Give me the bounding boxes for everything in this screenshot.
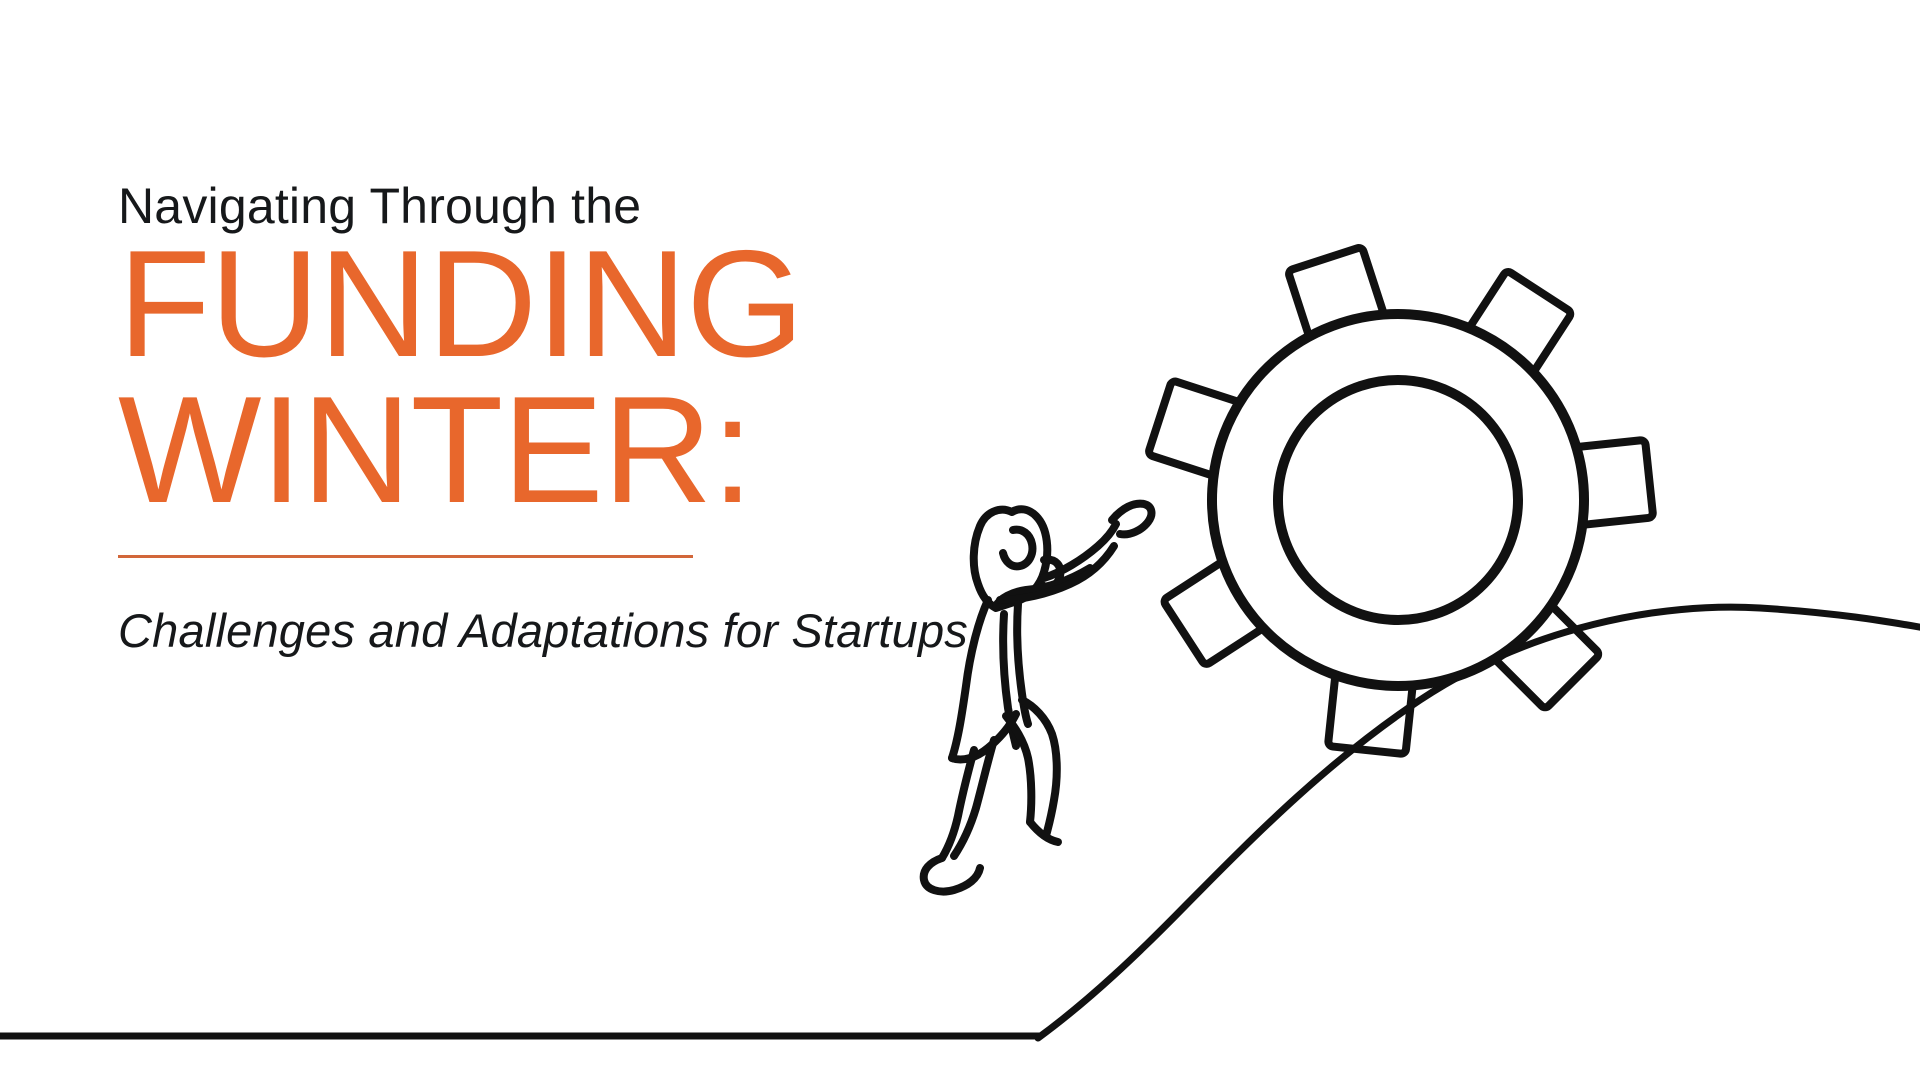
title-slide: Navigating Through the FUNDING WINTER: C… xyxy=(0,0,1920,1080)
gear-tooth xyxy=(1573,440,1653,525)
person-front-leg-inner xyxy=(1006,716,1031,822)
headline-line-2: WINTER: xyxy=(118,381,1198,521)
subtitle-text: Challenges and Adaptations for Startups xyxy=(118,603,1198,658)
person-front-foot xyxy=(1030,822,1058,842)
person-back-leg xyxy=(954,740,994,856)
gear-tooth xyxy=(1468,270,1573,373)
person-back-leg-inner xyxy=(942,750,974,858)
gear-tooth xyxy=(1494,603,1600,709)
person-back-foot xyxy=(924,858,980,892)
title-text-block: Navigating Through the FUNDING WINTER: C… xyxy=(118,180,1198,658)
page-title: FUNDING WINTER: xyxy=(118,235,1198,521)
headline-line-1: FUNDING xyxy=(118,235,1198,375)
gear-outer-rim xyxy=(1164,266,1633,735)
person-coat-hem xyxy=(952,714,1016,760)
gear-tooth xyxy=(1328,674,1413,754)
accent-divider xyxy=(118,555,693,558)
gear-tooth xyxy=(1288,247,1384,340)
person-front-leg xyxy=(1022,700,1057,836)
gear-inner-ring xyxy=(1247,349,1549,651)
hill-slope xyxy=(1038,607,1920,1038)
